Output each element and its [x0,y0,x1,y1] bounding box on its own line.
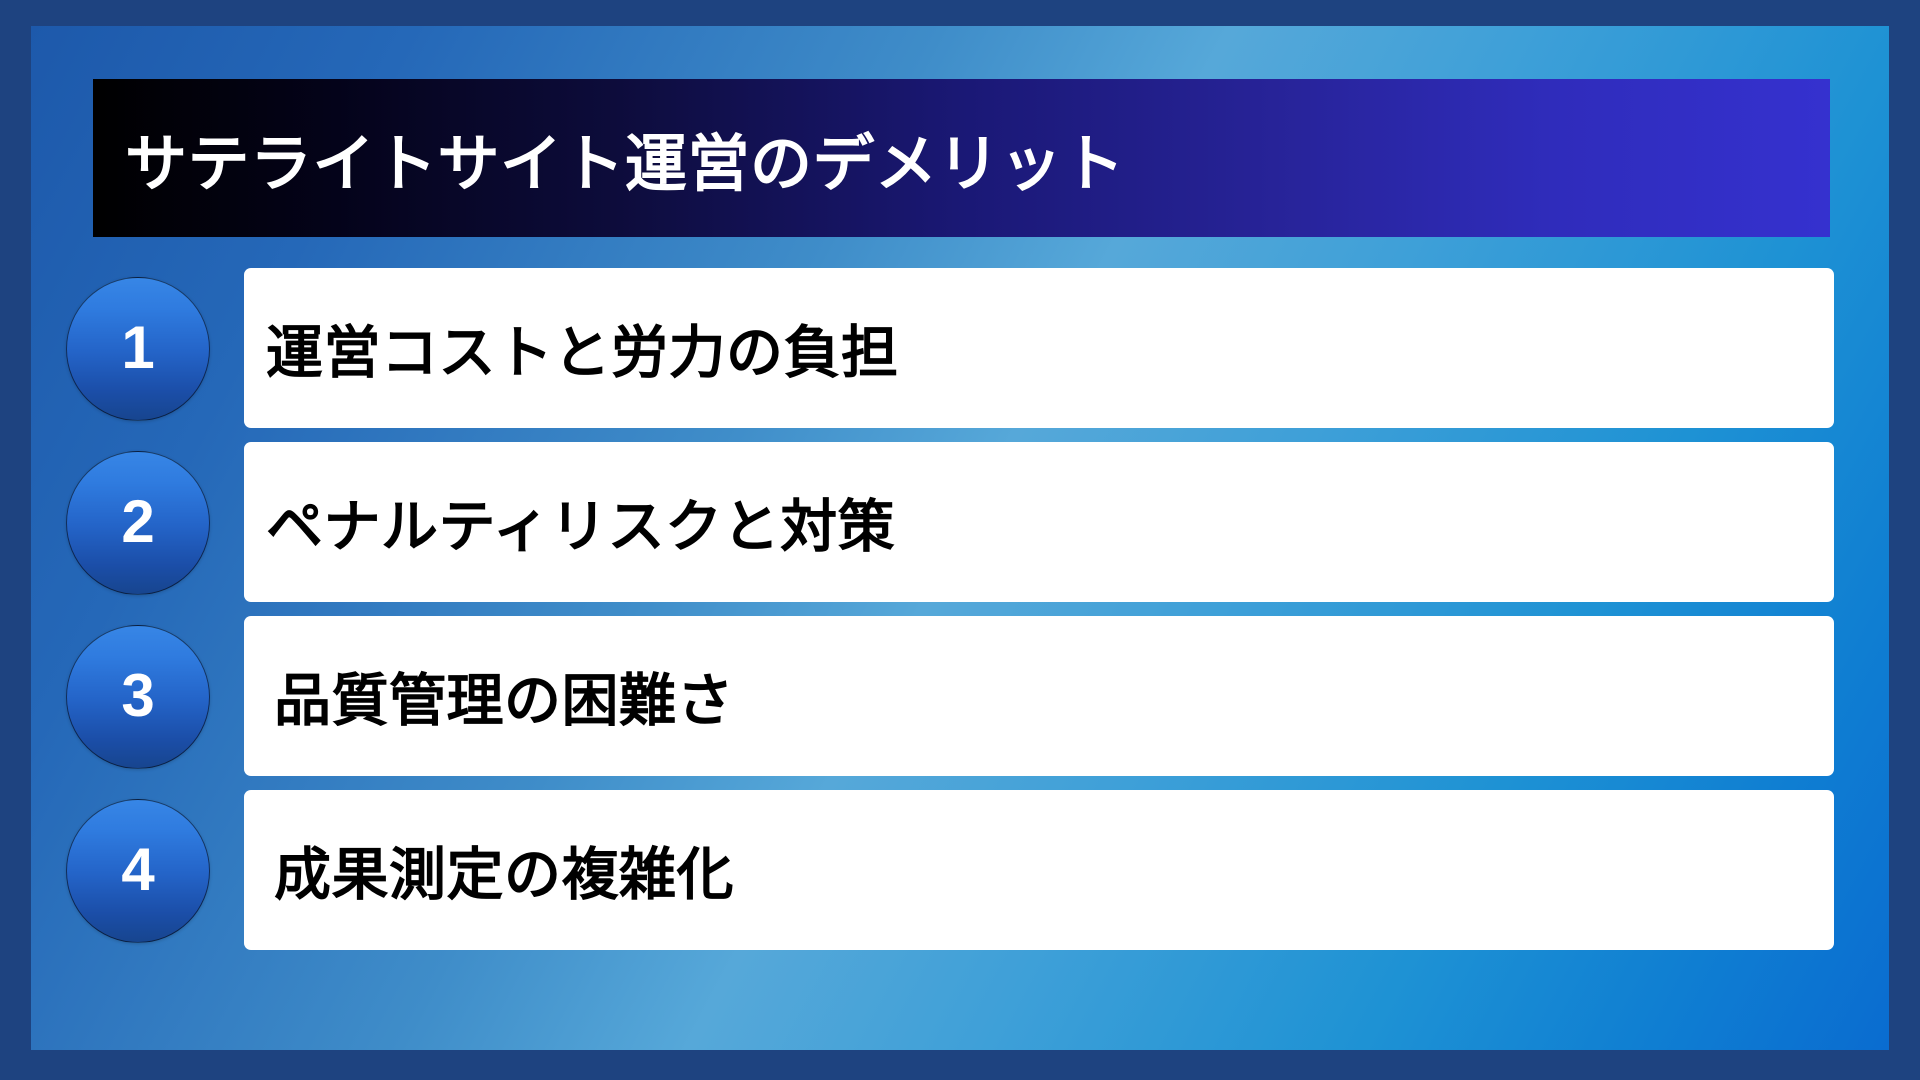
item-card-3[interactable]: 品質管理の困難さ [244,616,1834,776]
list-item[interactable]: 2 ペナルティリスクと対策 [31,442,1889,602]
item-number-badge-3: 3 [66,625,210,769]
list-item[interactable]: 4 成果測定の複雑化 [31,790,1889,950]
demerit-list: 1 運営コストと労力の負担 2 ペナルティリスクと対策 3 [31,268,1889,950]
item-number-1: 1 [121,318,154,378]
item-label-2: ペナルティリスクと対策 [266,481,895,563]
item-number-badge-4: 4 [66,799,210,943]
item-card-1[interactable]: 運営コストと労力の負担 [244,268,1834,428]
item-label-3: 品質管理の困難さ [274,655,734,737]
item-number-badge-1: 1 [66,277,210,421]
item-label-1: 運営コストと労力の負担 [266,307,899,389]
title-bar: サテライトサイト運営のデメリット [93,79,1830,237]
item-number-3: 3 [121,666,154,726]
item-number-2: 2 [121,492,154,552]
list-item[interactable]: 3 品質管理の困難さ [31,616,1889,776]
item-card-4[interactable]: 成果測定の複雑化 [244,790,1834,950]
item-label-4: 成果測定の複雑化 [274,829,734,911]
item-card-2[interactable]: ペナルティリスクと対策 [244,442,1834,602]
item-number-4: 4 [121,840,154,900]
list-item[interactable]: 1 運営コストと労力の負担 [31,268,1889,428]
page-title: サテライトサイト運営のデメリット [125,113,1125,203]
item-number-badge-2: 2 [66,451,210,595]
slide: サテライトサイト運営のデメリット 1 運営コストと労力の負担 2 ペナルティリス… [0,0,1920,1080]
slide-background: サテライトサイト運営のデメリット 1 運営コストと労力の負担 2 ペナルティリス… [31,26,1889,1050]
